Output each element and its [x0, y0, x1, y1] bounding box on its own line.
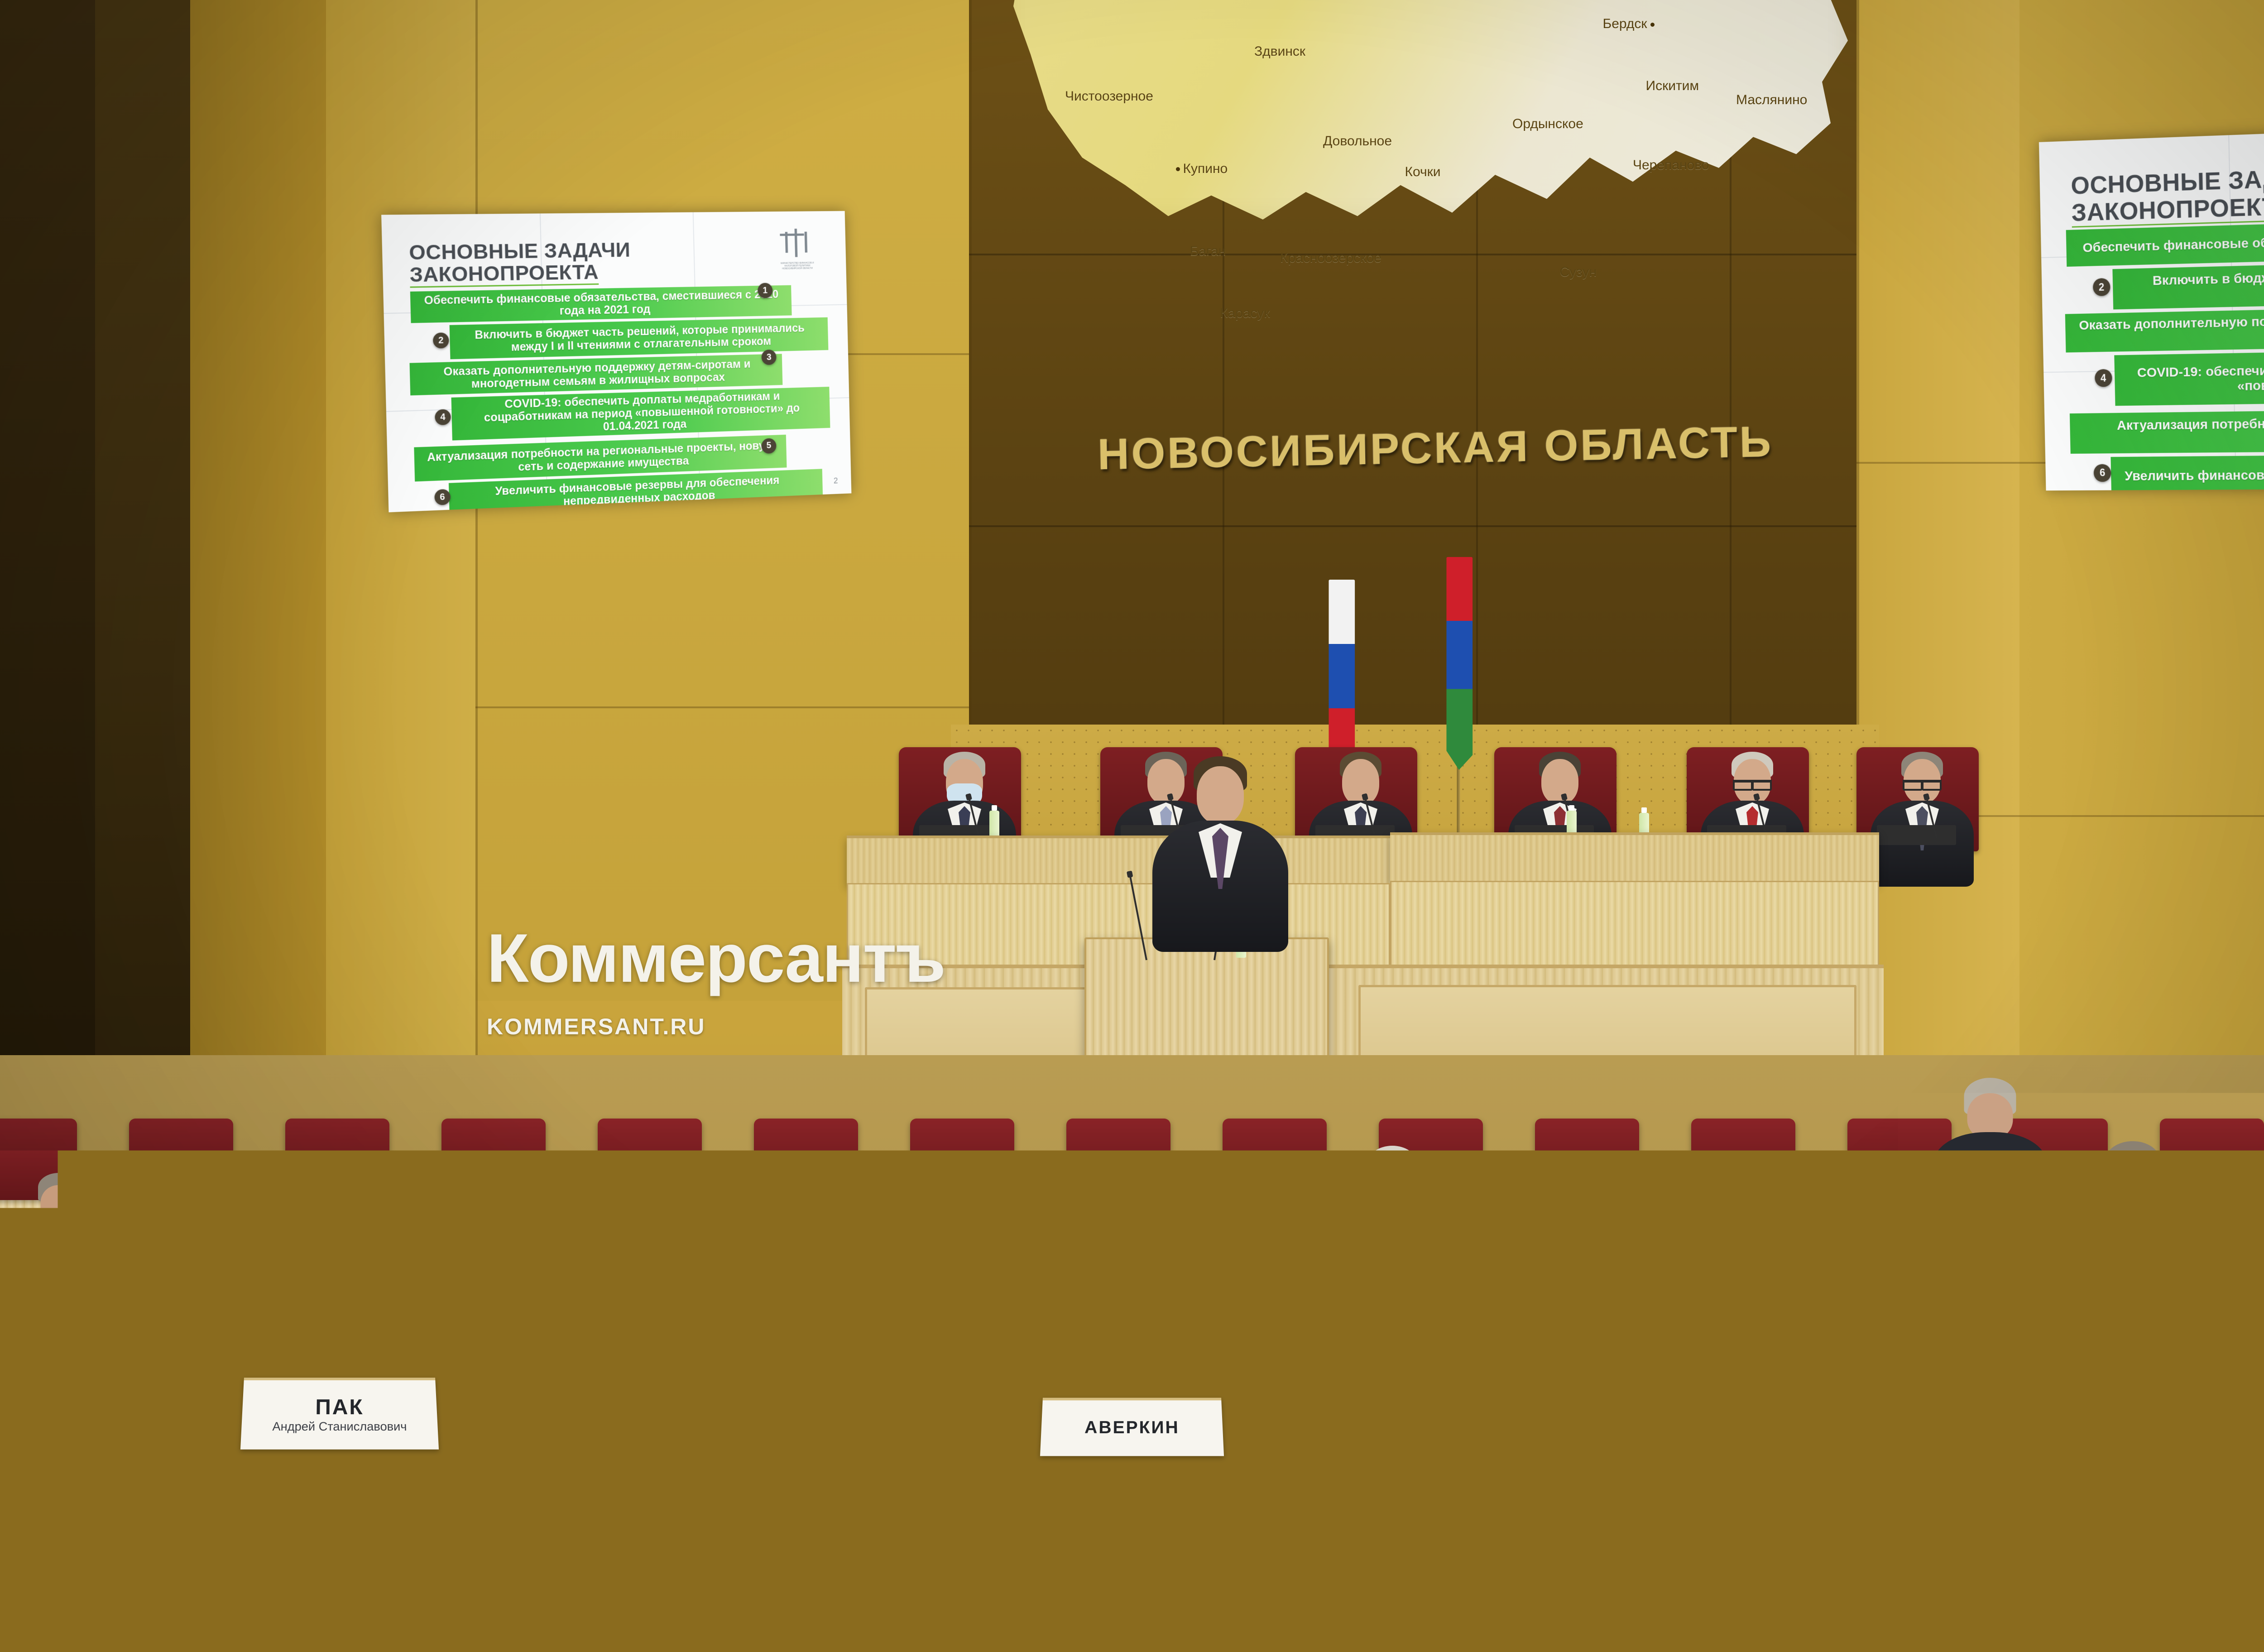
slide-bullet-text: Актуализация потребности на региональные…	[414, 439, 787, 478]
mini-slide-bullet	[1741, 1485, 1896, 1498]
attendee	[235, 1191, 331, 1291]
mini-slide-bullet	[429, 1203, 551, 1213]
mini-slide-bullet	[2128, 1282, 2257, 1296]
attendee	[1924, 1349, 2087, 1521]
attendee	[1340, 1146, 1444, 1255]
speaker-at-podium	[1146, 756, 1295, 946]
desk-seat-number: 508	[1598, 1508, 1653, 1540]
projection-screen-right: ОСНОВНЫЕ ЗАДАЧИ ЗАКОНОПРОЕКТА Обеспечить…	[2039, 120, 2264, 490]
wall-seam	[475, 706, 969, 708]
wall-column-a	[190, 0, 326, 1100]
mini-slide-bullet	[1860, 1256, 1989, 1267]
slide-bullet-text: Увеличить финансовые резервы для обеспеч…	[2111, 465, 2264, 484]
map-city-label: Карасук	[1220, 306, 1270, 321]
mini-slide-bullet	[436, 1213, 551, 1222]
mini-slide-bullet	[1209, 1544, 1362, 1557]
card-slot-label-line1: ВСТАВЬТЕ	[1746, 1399, 1781, 1406]
delegate-monitor[interactable]: ОСНОВНЫЕ ЗАДАЧИЗАКОНОПРОЕКТА	[1185, 1461, 1387, 1596]
map-city-label: Сузун	[1560, 264, 1597, 280]
ministry-of-finance-logo: МИНИСТЕРСТВО ФИНАНСОВ И НАЛОГОВОЙ ПОЛИТИ…	[777, 228, 818, 283]
mini-slide-bullet	[1524, 1349, 1632, 1359]
slide-left: ОСНОВНЫЕ ЗАДАЧИ ЗАКОНОПРОЕКТА МИНИСТЕРСТ…	[381, 211, 851, 512]
attendee-shoulders	[235, 1236, 331, 1293]
session-hall-photo: ЧаныБарабинскКаргатЧулымНовосибирскТатар…	[0, 0, 2264, 1652]
card-slot-label-line1: ВСТАВЬТЕ	[1361, 1317, 1396, 1324]
mini-slide-bullet	[726, 1282, 848, 1292]
delegate-seat	[321, 1263, 441, 1359]
attendee-shoulders	[2074, 1197, 2192, 1268]
monitor-screen: ОСНОВНЫЕ ЗАДАЧИЗАКОНОПРОЕКТА	[1719, 1428, 1931, 1561]
slide-bullet-text: Оказать дополнительную поддержку детям-с…	[2065, 307, 2264, 348]
member-head	[1541, 759, 1578, 804]
delegate-seat	[1952, 1263, 2072, 1359]
presidium-front-panel-right	[1390, 881, 1879, 968]
attendee	[54, 1449, 235, 1639]
card-slot-label-line2: КАРТУ	[1368, 1324, 1390, 1331]
mini-slide-bullet	[1732, 1498, 1892, 1512]
slide-bullet-number: 4	[2095, 369, 2112, 387]
map-city-label: Бердск	[1603, 16, 1658, 32]
mini-slide-bullet	[430, 1222, 548, 1232]
delegate-seat	[1408, 1263, 1528, 1359]
map-city-label: Довольное	[1323, 134, 1392, 149]
attendee-shoulders	[1150, 1211, 1259, 1277]
map-city-label: Красноозерское	[1280, 250, 1381, 266]
attendee	[534, 1200, 638, 1310]
eyeglasses-icon	[1903, 780, 1942, 782]
arrow-down-icon	[1374, 1332, 1384, 1339]
map-city-label: Баган	[1190, 244, 1226, 259]
attendee	[2074, 1141, 2192, 1265]
flag-cloth-russia	[1329, 580, 1355, 774]
wall-seam	[969, 525, 1856, 527]
slide-bullet-number: 2	[2093, 278, 2111, 296]
mini-slide-bullet	[1860, 1229, 1999, 1240]
slide-bullet-number: 2	[433, 332, 449, 348]
mini-slide-bullet	[430, 1244, 542, 1253]
wall-column-b	[326, 0, 475, 1100]
map-city-label: Чистоозерное	[1065, 89, 1153, 104]
slide-bullet: Оказать дополнительную поддержку детям-с…	[2065, 302, 2264, 352]
delegate-seat	[1440, 1408, 1580, 1522]
attendee	[1933, 1078, 2047, 1197]
flag-novosibirsk-oblast	[1444, 557, 1473, 833]
desk-seat-number: 407	[1721, 1352, 1775, 1383]
delegate-nameplate: ПАКАндрей Станиславович	[240, 1378, 439, 1449]
slide-bullet-number: 4	[435, 409, 451, 426]
mini-slide-bullet	[1209, 1520, 1351, 1532]
attendee	[933, 1218, 1046, 1337]
monitor-screen: ОСНОВНЫЕ ЗАДАЧИЗАКОНОПРОЕКТА	[1515, 1302, 1659, 1392]
watermark-domain: KOMMERSANT.RU	[487, 1013, 945, 1040]
mini-slide-bullet	[1853, 1244, 1978, 1254]
delegate-seat	[129, 1119, 233, 1200]
presidium-desk-left	[847, 836, 1390, 885]
map-city-label: Кочки	[1405, 164, 1441, 180]
card-slot-label-line2: КАРТУ	[1753, 1406, 1775, 1412]
delegate-seat	[285, 1119, 389, 1200]
attendee-shoulders	[54, 1536, 235, 1644]
delegate-seat	[754, 1119, 858, 1200]
slide-bullet-number: 6	[2094, 464, 2111, 481]
mini-slide-bullet	[1201, 1561, 1339, 1573]
mini-slide-bullet	[1733, 1528, 1884, 1541]
watermark-brand: Коммерсантъ	[487, 924, 945, 993]
map-region-shape	[996, 0, 1856, 226]
wall-seam	[969, 254, 1856, 255]
mini-slide-bullet	[720, 1227, 849, 1237]
water-bottle	[989, 811, 999, 839]
ministry-crest-icon	[777, 228, 817, 262]
ministry-logo-caption: МИНИСТЕРСТВО ФИНАНСОВ И НАЛОГОВОЙ ПОЛИТИ…	[777, 262, 818, 271]
eyeglasses-icon	[1733, 780, 1772, 782]
slide-bullet-text: COVID-19: обеспечить доплаты медработник…	[2115, 356, 2264, 395]
mini-slide-bullet	[719, 1247, 845, 1257]
mini-slide-bullet	[92, 1306, 231, 1320]
mini-slide-bullet	[1525, 1332, 1636, 1341]
attendee-shoulders	[480, 1426, 629, 1515]
slide-bullet: COVID-19: обеспечить доплаты медработник…	[451, 387, 830, 440]
slide-title-left: ОСНОВНЫЕ ЗАДАЧИ ЗАКОНОПРОЕКТА	[409, 239, 631, 286]
slide-title-right: ОСНОВНЫЕ ЗАДАЧИ ЗАКОНОПРОЕКТА	[2071, 163, 2264, 226]
mini-slide-bullet	[1530, 1380, 1635, 1389]
attendee	[480, 1354, 629, 1511]
nameplate-given-name: Андрей Станиславович	[272, 1420, 407, 1434]
projection-screen-left: ОСНОВНЫЕ ЗАДАЧИ ЗАКОНОПРОЕКТА МИНИСТЕРСТ…	[381, 211, 851, 512]
delegate-seat	[1535, 1119, 1639, 1200]
slide-bullet-text: Обеспечить финансовые обязательства, сме…	[2067, 225, 2264, 256]
member-head	[1342, 759, 1379, 805]
desk-seat-number: 306	[1766, 1273, 1820, 1304]
mini-slide-bullet	[1852, 1219, 1985, 1230]
map-city-label: Ордынское	[1512, 116, 1583, 132]
mini-slide-bullet	[726, 1257, 858, 1268]
kommersant-watermark: Коммерсантъ KOMMERSANT.RU	[487, 924, 945, 1040]
flag-cloth-novosibirsk	[1446, 557, 1473, 770]
mini-slide-bullet	[1732, 1473, 1896, 1486]
slide-page-number-left: 2	[834, 476, 838, 485]
card-slot-label-line2: КАРТУ	[68, 1277, 90, 1283]
wall-seam	[475, 0, 478, 1100]
mini-slide-title: ОСНОВНЫЕ ЗАДАЧИЗАКОНОПРОЕКТА	[1524, 1306, 1633, 1326]
mini-slide-title: ОСНОВНЫЕ ЗАДАЧИЗАКОНОПРОЕКТА	[1729, 1436, 1891, 1464]
delegate-monitor[interactable]: ОСНОВНЫЕ ЗАДАЧИЗАКОНОПРОЕКТА	[1511, 1298, 1663, 1396]
mini-slide-title: ОСНОВНЫЕ ЗАДАЧИЗАКОНОПРОЕКТА	[719, 1198, 846, 1221]
mini-slide-bullet	[2120, 1270, 2246, 1282]
mini-slide-bullet	[1202, 1507, 1352, 1520]
mini-slide-title: ОСНОВНЫЕ ЗАДАЧИЗАКОНОПРОЕКТА	[427, 1176, 548, 1198]
attendee	[788, 1404, 960, 1585]
mini-slide-bullet	[726, 1237, 849, 1247]
presidium-member	[1866, 752, 1979, 865]
mini-slide-title: ОСНОВНЫЕ ЗАДАЧИЗАКОНОПРОЕКТА	[1200, 1471, 1348, 1497]
attendee-shoulders	[933, 1273, 1046, 1340]
wall-map-novosibirsk-region: ЧаныБарабинскКаргатЧулымНовосибирскТатар…	[996, 0, 1856, 226]
attendee-shoulders	[534, 1250, 638, 1312]
map-city-label: Здвинск	[1254, 44, 1305, 59]
map-city-label: Маслянино	[1736, 92, 1807, 108]
mini-slide-bullet	[1741, 1511, 1909, 1524]
mini-slide-bullet	[1741, 1543, 1897, 1556]
slide-bullet-number: 6	[434, 489, 451, 505]
speaker-head	[1197, 766, 1244, 824]
attendee-shoulders	[1340, 1196, 1444, 1258]
card-slot-label-line1: ВСТАВЬТЕ	[61, 1270, 97, 1277]
map-city-label: Искитим	[1646, 78, 1699, 94]
nameplate-surname: ПАК	[315, 1395, 364, 1420]
slide-bullet: COVID-19: обеспечить доплаты медработник…	[2114, 346, 2264, 406]
card-slot-label: ВСТАВЬТЕКАРТУ	[1355, 1309, 1403, 1347]
attendee-shoulders	[14, 1216, 104, 1271]
mini-slide-bullet	[1524, 1370, 1626, 1378]
delegate-nameplate: АВЕРКИН	[1040, 1398, 1224, 1456]
mini-slide-bullet	[719, 1270, 838, 1280]
arrow-down-icon	[74, 1285, 84, 1291]
slide-right: ОСНОВНЫЕ ЗАДАЧИ ЗАКОНОПРОЕКТА Обеспечить…	[2039, 120, 2264, 490]
voting-card-slot[interactable]: ВСТАВЬТЕКАРТУ	[1349, 1304, 1408, 1352]
slide-bullet-text: Актуализация потребности на региональные…	[2070, 412, 2264, 448]
wall-dark-left-edge	[0, 0, 95, 1100]
nameplate-surname: АВЕРКИН	[1084, 1418, 1180, 1438]
mini-slide-bullet	[1530, 1359, 1644, 1368]
wall-column-right-a	[1856, 0, 2019, 1100]
attendee	[1150, 1159, 1259, 1273]
attendee-shoulders	[1933, 1132, 2047, 1200]
attendee-shoulders	[1924, 1427, 2087, 1525]
slide-bullet-text: COVID-19: обеспечить доплаты медработник…	[451, 389, 830, 438]
slide-bullet-text: Включить в бюджет часть решений, которые…	[2113, 260, 2264, 304]
delegate-seat	[1691, 1119, 1795, 1200]
attendee	[14, 1173, 104, 1268]
delegate-seat	[598, 1119, 702, 1200]
slide-bullet: Актуализация потребности на региональные…	[2070, 407, 2264, 454]
map-city-label: Черепаново	[1633, 158, 1709, 173]
slide-bullet-text: Обеспечить финансовые обязательства, сме…	[410, 288, 792, 321]
delegate-seat	[2078, 1408, 2219, 1522]
voting-card-slot[interactable]: ВСТАВЬТЕКАРТУ	[1734, 1386, 1793, 1433]
slide-bullet: Увеличить финансовые резервы для обеспеч…	[2111, 452, 2264, 490]
mini-slide-bullet	[1208, 1575, 1350, 1588]
delegate-monitor[interactable]: ОСНОВНЫЕ ЗАДАЧИЗАКОНОПРОЕКТА	[1715, 1425, 1934, 1564]
arrow-down-icon	[1759, 1414, 1769, 1420]
card-slot-label: ВСТАВЬТЕКАРТУ	[1740, 1391, 1788, 1429]
mini-slide-bullet	[1114, 1275, 1230, 1285]
attendee-shoulders	[788, 1486, 960, 1590]
mini-slide-bullet	[1201, 1532, 1348, 1545]
presidium-desk-nameplate	[1877, 825, 1956, 845]
mini-slide-bullet	[1859, 1209, 1988, 1220]
desk-seat-number: 307	[1348, 1263, 1403, 1295]
monitor-screen: ОСНОВНЫЕ ЗАДАЧИЗАКОНОПРОЕКТА	[1189, 1465, 1383, 1592]
map-city-label: Купино	[1173, 161, 1228, 177]
mini-slide-bullet	[1530, 1341, 1636, 1350]
slide-bullet-text: Оказать дополнительную поддержку детям-с…	[409, 357, 782, 392]
presidium-desk-right	[1390, 832, 1879, 883]
slide-bullet: Обеспечить финансовые обязательства, сме…	[410, 285, 791, 323]
